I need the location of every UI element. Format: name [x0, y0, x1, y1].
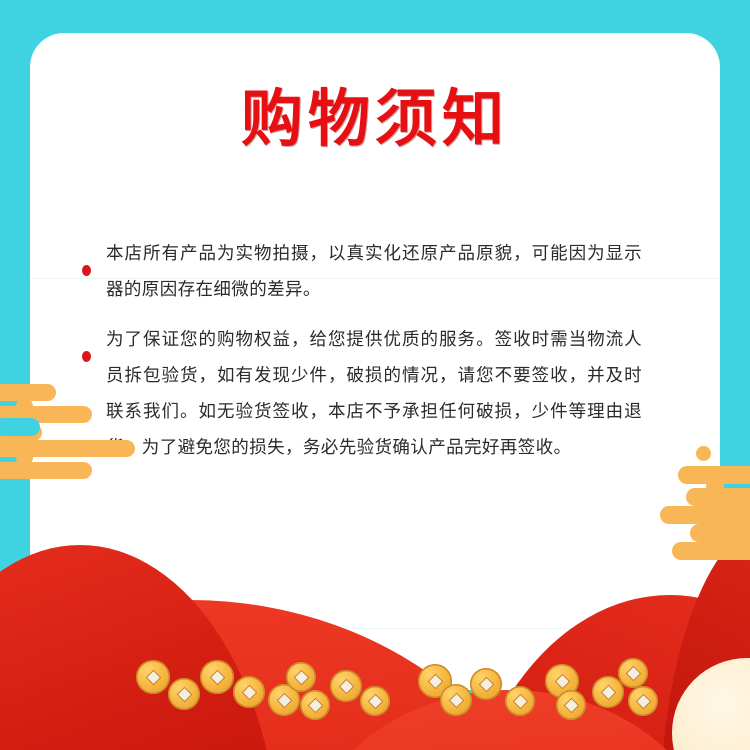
notice-text: 本店所有产品为实物拍摄，以真实化还原产品原貌，可能因为显示器的原因存在细微的差异…	[106, 244, 642, 300]
right-bar-5	[706, 478, 724, 540]
gold-coin-icon	[136, 660, 170, 694]
page-title: 购物须知	[0, 88, 750, 150]
gold-coin-icon	[330, 670, 362, 702]
gold-coin-icon	[440, 684, 472, 716]
gold-coin-icon	[300, 690, 330, 720]
right-bar-6	[672, 542, 750, 560]
right-bar-3	[660, 506, 750, 524]
gold-coin-icon	[200, 660, 234, 694]
promo-banner: 购物须知 本店所有产品为实物拍摄，以真实化还原产品原貌，可能因为显示器的原因存在…	[0, 0, 750, 750]
gold-coin-icon	[168, 678, 200, 710]
notice-list: 本店所有产品为实物拍摄，以真实化还原产品原貌，可能因为显示器的原因存在细微的差异…	[80, 236, 642, 480]
gold-coin-icon	[470, 668, 502, 700]
gold-coin-icon	[505, 686, 535, 716]
decor-dot	[696, 446, 711, 461]
bullet-dot-icon	[82, 351, 91, 362]
gold-coin-icon	[233, 676, 265, 708]
list-item: 为了保证您的购物权益，给您提供优质的服务。签收时需当物流人员拆包验货，如有发现少…	[80, 322, 642, 466]
notice-text: 为了保证您的购物权益，给您提供优质的服务。签收时需当物流人员拆包验货，如有发现少…	[106, 330, 642, 458]
left-bar-6	[0, 462, 92, 479]
teal-inset-patch	[0, 418, 40, 436]
gold-coin-icon	[360, 686, 390, 716]
gold-coin-icon	[286, 662, 316, 692]
list-item: 本店所有产品为实物拍摄，以真实化还原产品原貌，可能因为显示器的原因存在细微的差异…	[80, 236, 642, 308]
gold-coin-icon	[628, 686, 658, 716]
bullet-dot-icon	[82, 265, 91, 276]
gold-coin-icon	[618, 658, 648, 688]
gold-coin-icon	[556, 690, 586, 720]
